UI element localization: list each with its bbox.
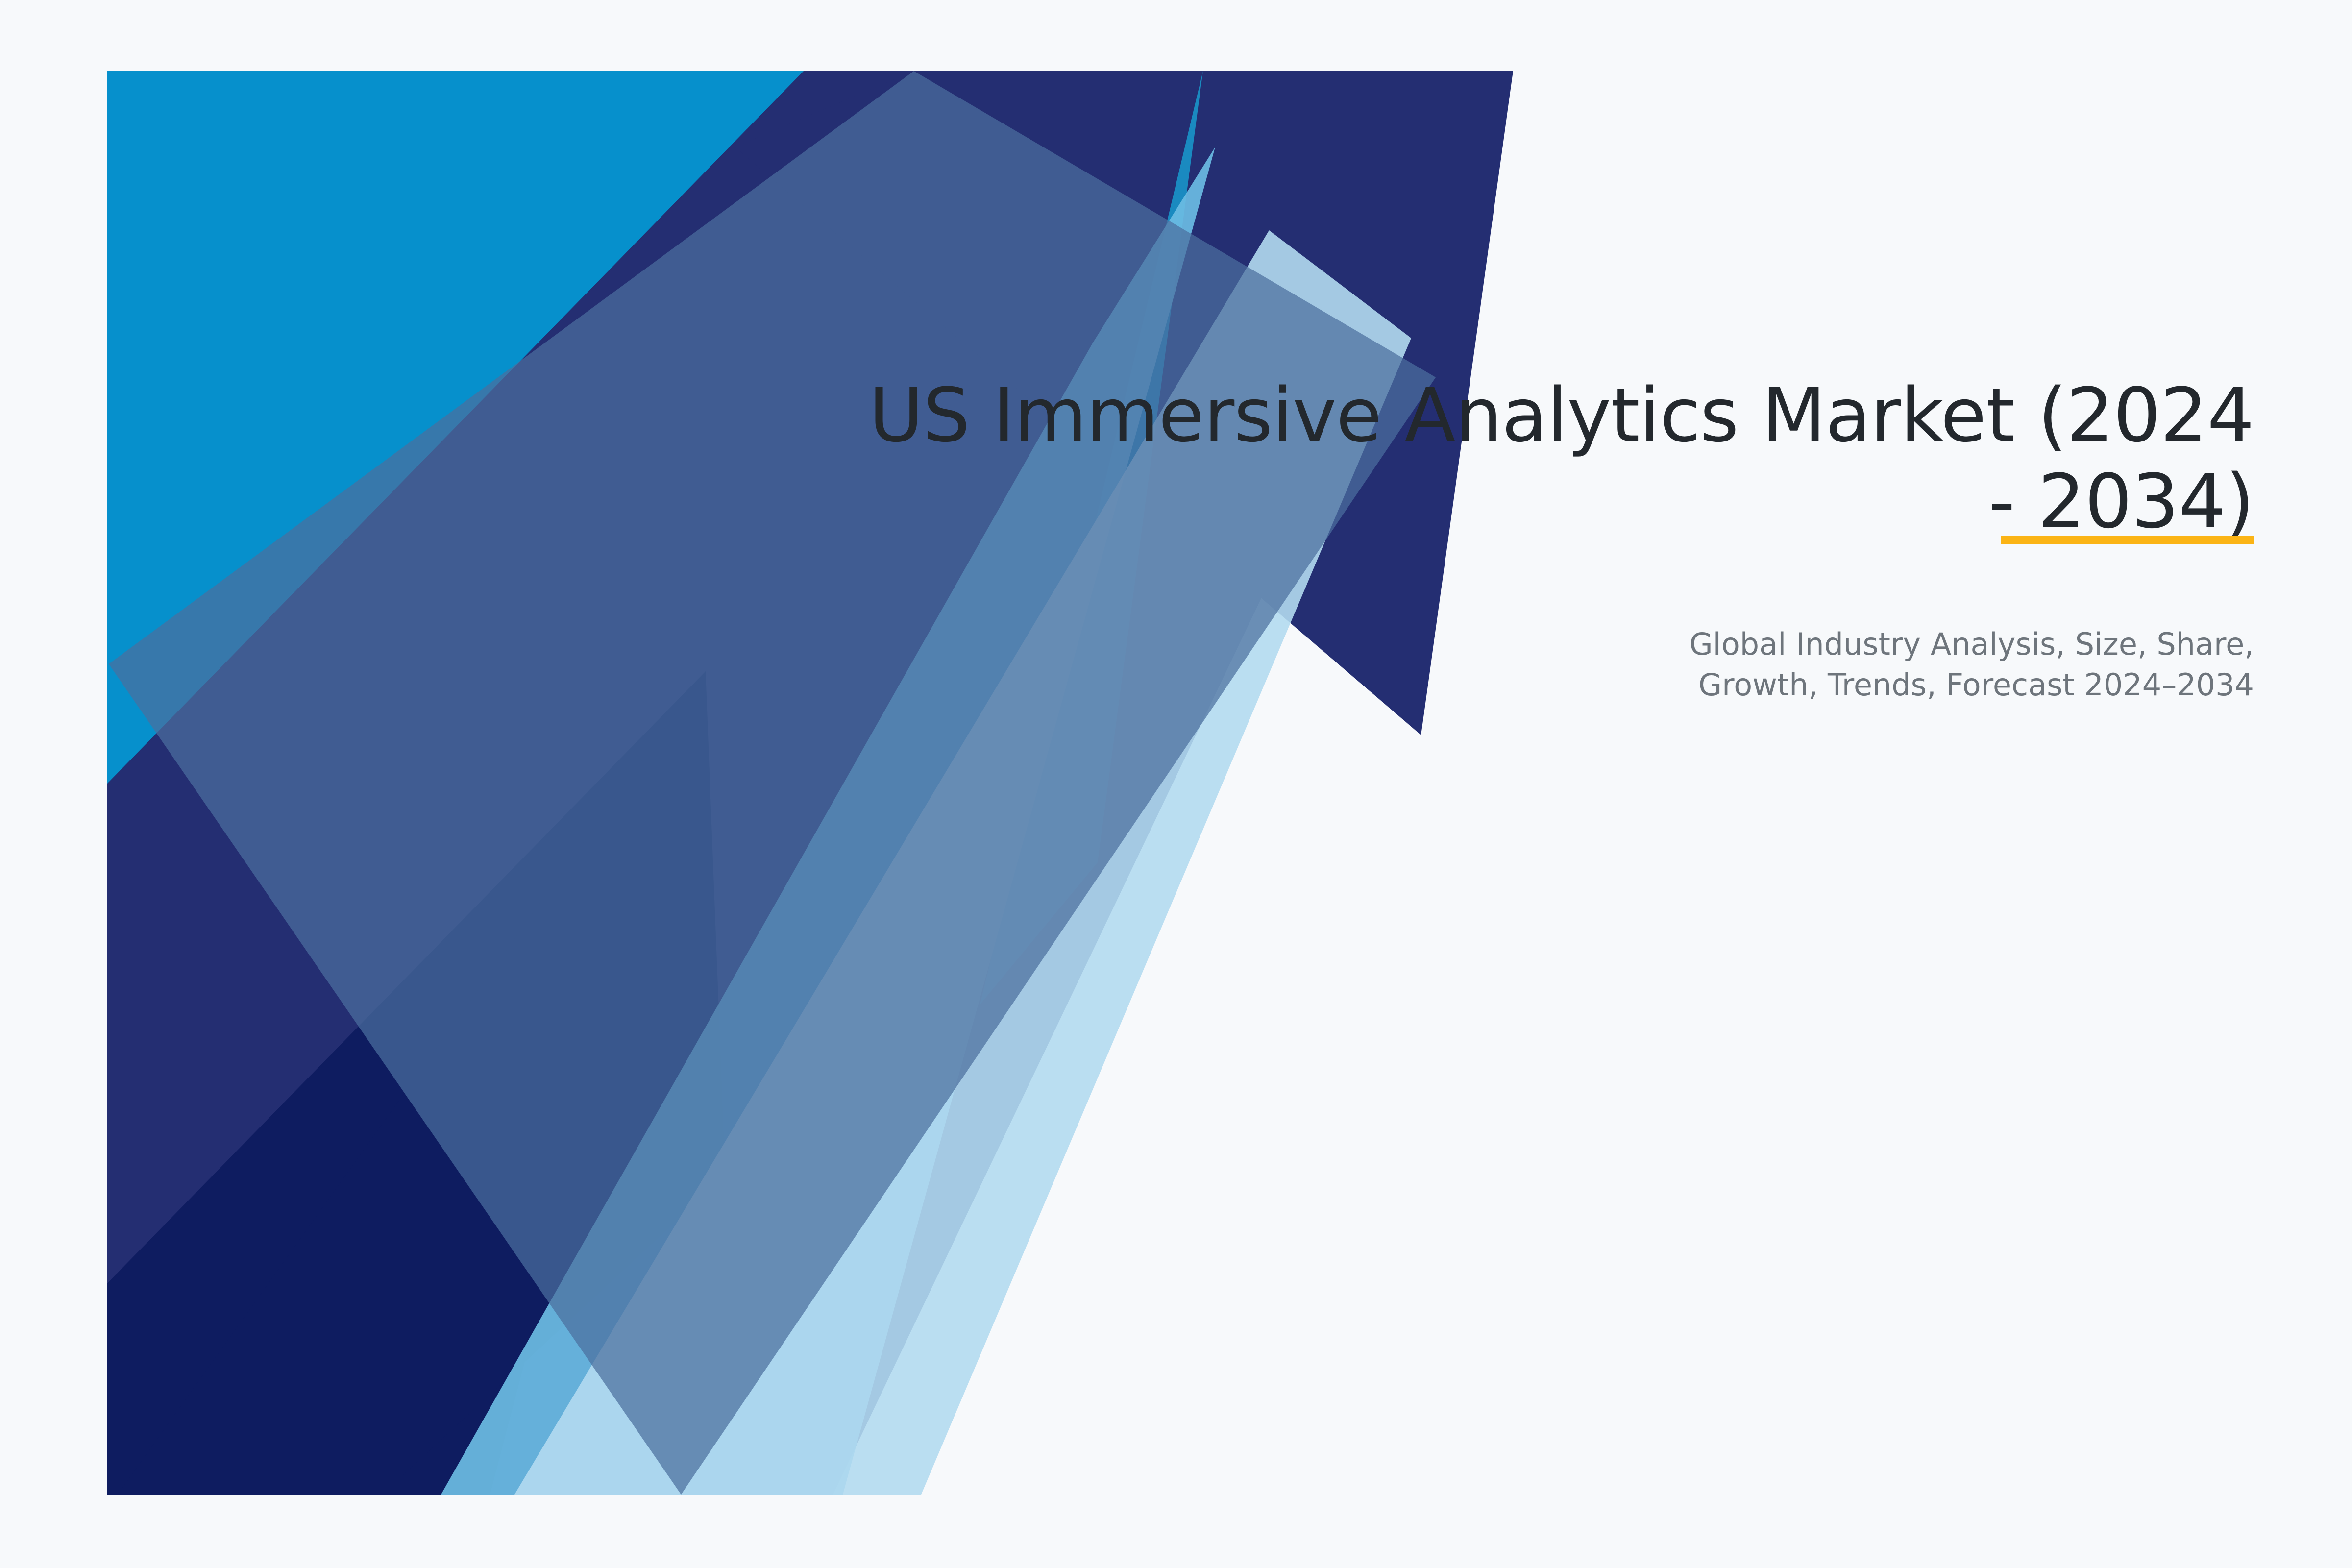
title-accent-rule bbox=[2001, 536, 2254, 544]
page-title: US Immersive Analytics Market (2024 - 20… bbox=[784, 372, 2254, 545]
page-subtitle: Global Industry Analysis, Size, Share, G… bbox=[784, 545, 2254, 705]
report-cover: US Immersive Analytics Market (2024 - 20… bbox=[0, 0, 2352, 1568]
abstract-geometric-banner bbox=[0, 0, 2352, 1568]
cover-text-block: US Immersive Analytics Market (2024 - 20… bbox=[784, 372, 2254, 705]
